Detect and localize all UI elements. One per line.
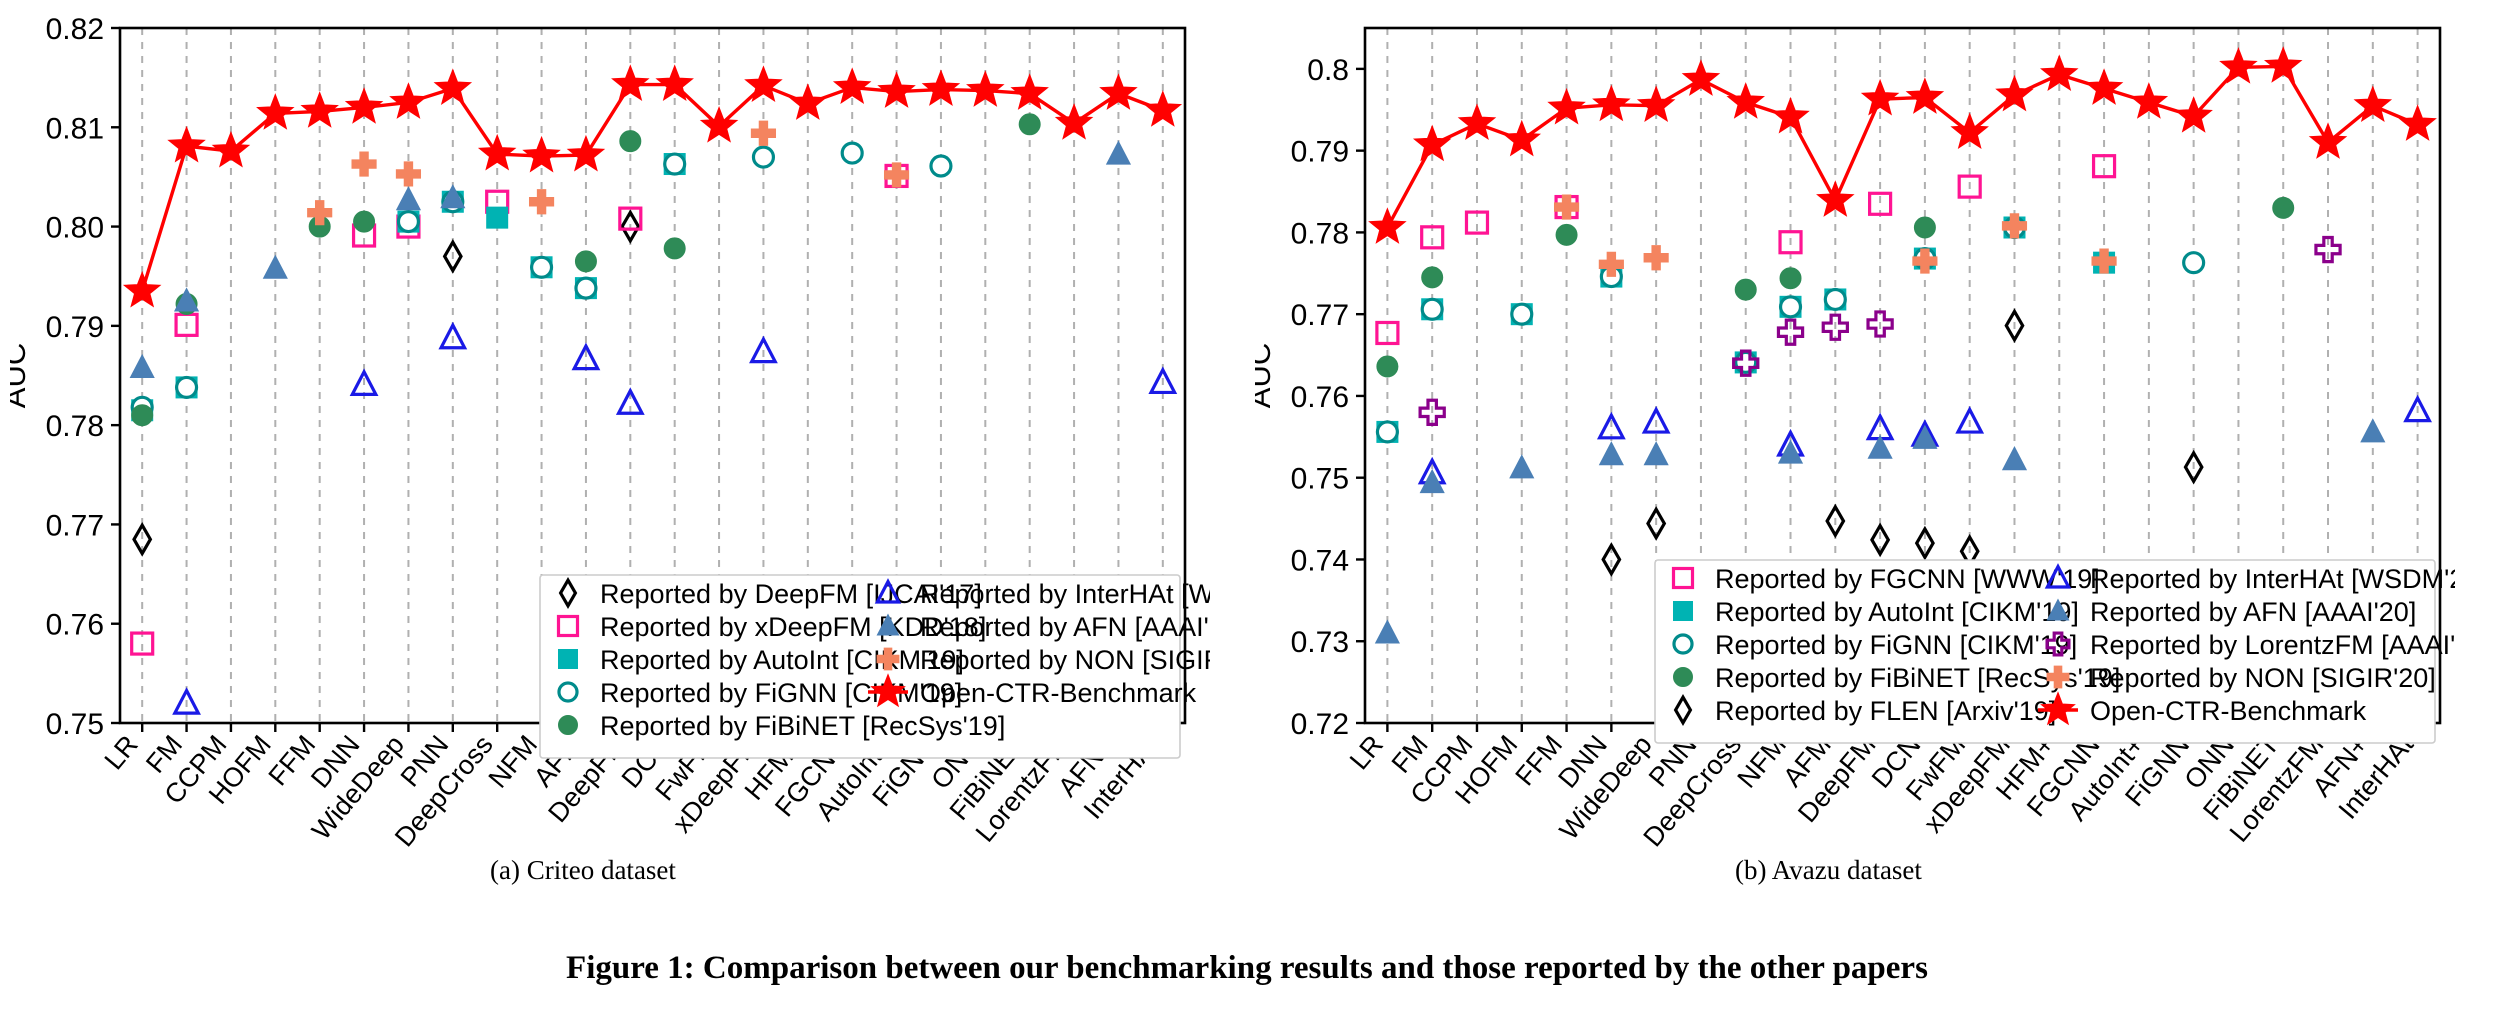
data-point-circle-open [559, 683, 577, 701]
y-tick-label: 0.78 [46, 410, 104, 443]
data-point-circle-open [665, 154, 685, 174]
data-point-circle-open [398, 212, 418, 232]
y-tick-label: 0.8 [1307, 54, 1349, 87]
chart-panel-avazu: 0.720.730.740.750.760.770.780.790.8LRFMC… [1255, 0, 2455, 860]
data-point-circle-filled [1377, 356, 1398, 377]
x-tick-label: LR [99, 730, 144, 776]
y-tick-label: 0.82 [46, 13, 104, 46]
y-axis-ticks: 0.750.760.770.780.790.800.810.82 [46, 13, 120, 741]
data-point-circle-open [842, 143, 862, 163]
y-tick-label: 0.77 [1291, 299, 1349, 332]
y-tick-label: 0.76 [46, 609, 104, 642]
avazu-plot-svg: 0.720.730.740.750.760.770.780.790.8LRFMC… [1255, 0, 2455, 860]
legend-label: Reported by AutoInt [CIKM'19] [600, 645, 964, 675]
y-axis-ticks: 0.720.730.740.750.760.770.780.790.8 [1291, 54, 1365, 741]
y-tick-label: 0.74 [1291, 544, 1349, 577]
figure-caption: Figure 1: Comparison between our benchma… [0, 950, 2494, 987]
chart-legend: Reported by FGCNN [WWW'19]Reported by Au… [1655, 560, 2455, 743]
data-point-square-filled [487, 207, 508, 228]
data-point-circle-filled [1422, 267, 1443, 288]
data-point-circle-filled [1019, 114, 1040, 135]
subcaption-criteo: (a) Criteo dataset [490, 855, 676, 886]
y-tick-label: 0.80 [46, 212, 104, 245]
data-point-circle-open [1736, 352, 1756, 372]
y-tick-label: 0.73 [1291, 626, 1349, 659]
data-point-circle-filled [1914, 217, 1935, 238]
x-tick-label: NFM [483, 730, 544, 794]
data-point-circle-filled [1674, 668, 1693, 687]
data-point-circle-open [2184, 253, 2204, 273]
data-point-circle-filled [664, 238, 685, 259]
y-tick-label: 0.75 [46, 708, 104, 741]
legend-label: Reported by InterHAt [WSDM'20] [2090, 564, 2455, 594]
data-point-circle-filled [559, 716, 578, 735]
data-point-circle-filled [1780, 268, 1801, 289]
chart-legend: Reported by DeepFM [IJCAI'17]Reported by… [540, 575, 1210, 758]
legend-label: Reported by AFN [AAAI'20] [2090, 597, 2416, 627]
y-axis-label: AUC [10, 343, 32, 408]
data-point-circle-filled [2273, 197, 2294, 218]
data-point-circle-open [753, 147, 773, 167]
data-point-circle-open [576, 278, 596, 298]
legend-label: Reported by AFN [AAAI'20] [920, 612, 1210, 642]
y-tick-label: 0.77 [46, 509, 104, 542]
data-point-square-filled [1674, 602, 1693, 621]
subcaption-avazu: (b) Avazu dataset [1735, 855, 1922, 886]
data-point-circle-open [1674, 635, 1692, 653]
y-tick-label: 0.76 [1291, 381, 1349, 414]
data-point-circle-open [532, 257, 552, 277]
chart-panel-criteo: 0.750.760.770.780.790.800.810.82LRFMCCPM… [10, 0, 1210, 860]
data-point-square-filled [559, 650, 578, 669]
legend-label: Open-CTR-Benchmark [920, 678, 1197, 708]
y-tick-label: 0.78 [1291, 217, 1349, 250]
legend-label: Reported by LorentzFM [AAAI'20] [2090, 630, 2455, 660]
y-axis-label: AUC [1255, 343, 1277, 408]
data-point-circle-filled [620, 131, 641, 152]
data-point-circle-open [1512, 304, 1532, 324]
legend-label: Reported by InterHAt [WSDM'20] [920, 579, 1210, 609]
data-point-circle-open [1422, 299, 1442, 319]
data-point-circle-filled [354, 211, 375, 232]
legend-label: Reported by FiBiNET [RecSys'19] [600, 711, 1005, 741]
y-tick-label: 0.79 [46, 311, 104, 344]
y-tick-label: 0.72 [1291, 708, 1349, 741]
x-tick-label: FFM [263, 730, 322, 792]
y-tick-label: 0.79 [1291, 136, 1349, 169]
legend-label: Reported by FGCNN [WWW'19] [1715, 564, 2100, 594]
data-point-circle-open [931, 156, 951, 176]
legend-label: Reported by FLEN [Arxiv'19] [1715, 696, 2056, 726]
y-tick-label: 0.75 [1291, 463, 1349, 496]
legend-label: Reported by NON [SIGIR'20] [2090, 663, 2436, 693]
data-point-circle-filled [1735, 279, 1756, 300]
x-tick-label: LR [1344, 730, 1389, 776]
legend-label: Open-CTR-Benchmark [2090, 696, 2367, 726]
data-point-circle-filled [575, 251, 596, 272]
legend-label: Reported by NON [SIGIR'20] [920, 645, 1210, 675]
criteo-plot-svg: 0.750.760.770.780.790.800.810.82LRFMCCPM… [10, 0, 1210, 860]
data-point-circle-filled [132, 405, 153, 426]
legend-label: Reported by FiGNN [CIKM'19] [1715, 630, 2077, 660]
data-point-circle-filled [1556, 224, 1577, 245]
data-point-circle-open [177, 377, 197, 397]
data-point-circle-open [1825, 289, 1845, 309]
data-point-circle-open [1781, 297, 1801, 317]
data-point-circle-open [1377, 422, 1397, 442]
x-tick-label: FFM [1510, 730, 1569, 792]
legend-label: Reported by AutoInt [CIKM'19] [1715, 597, 2079, 627]
x-tick-labels: LRFMCCPMHOFMFFMDNNWideDeepPNNDeepCrossNF… [1344, 729, 2420, 852]
figure-container: 0.750.760.770.780.790.800.810.82LRFMCCPM… [0, 0, 2494, 1016]
y-tick-label: 0.81 [46, 112, 104, 145]
